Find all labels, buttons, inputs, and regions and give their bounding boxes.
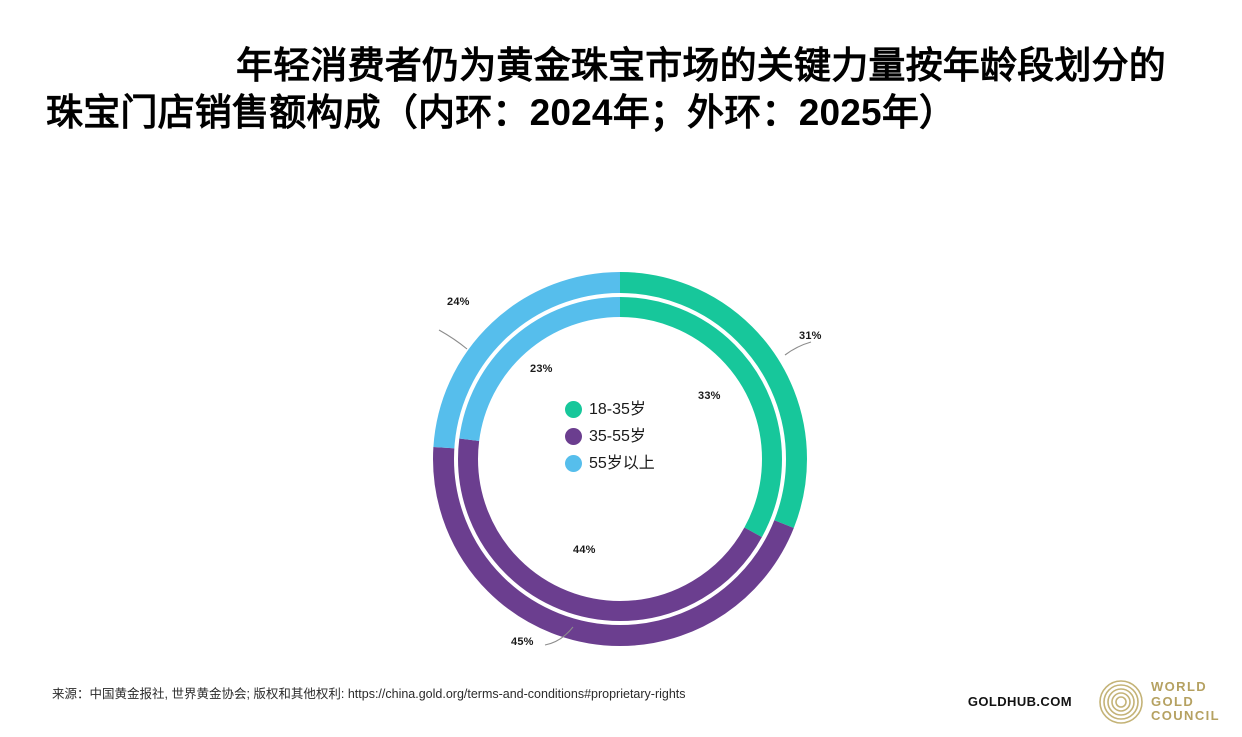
legend-swatch-55plus <box>565 455 582 472</box>
legend-label-18-35: 18-35岁 <box>589 401 646 419</box>
brand-footer: GOLDHUB.COM WORLD GOLD COUNCIL <box>968 679 1220 725</box>
world-gold-council-logo: WORLD GOLD COUNCIL <box>1098 679 1220 725</box>
pct-label-outer-35-55: 45% <box>511 636 534 648</box>
leader-line-outer-55plus <box>439 330 467 349</box>
leader-line-outer-18-35 <box>785 342 811 355</box>
pct-label-inner-35-55: 44% <box>573 544 596 556</box>
legend-swatch-18-35 <box>565 401 582 418</box>
page-title: 年轻消费者仍为黄金珠宝市场的关键力量按年龄段划分的珠宝门店销售额构成（内环：20… <box>46 42 1186 136</box>
pct-label-outer-55plus: 24% <box>447 296 470 308</box>
pct-label-outer-18-35: 31% <box>799 330 822 342</box>
legend-label-35-55: 35-55岁 <box>589 428 646 446</box>
pct-label-inner-55plus: 23% <box>530 363 553 375</box>
legend-item-18-35[interactable]: 18-35岁 <box>565 396 715 423</box>
wgc-word-world: WORLD <box>1151 680 1220 695</box>
source-note-url[interactable]: https://china.gold.org/terms-and-conditi… <box>348 687 686 701</box>
legend-item-35-55[interactable]: 35-55岁 <box>565 423 715 450</box>
chart-legend: 18-35岁 35-55岁 55岁以上 <box>565 396 715 477</box>
wgc-wordmark: WORLD GOLD COUNCIL <box>1151 680 1220 724</box>
legend-item-55plus[interactable]: 55岁以上 <box>565 450 715 477</box>
source-note-prefix: 来源：中国黄金报社, 世界黄金协会; 版权和其他权利: <box>52 687 348 701</box>
concentric-rings-icon <box>1098 679 1144 725</box>
wgc-word-gold: GOLD <box>1151 695 1220 710</box>
wgc-word-council: COUNCIL <box>1151 709 1220 724</box>
legend-swatch-35-55 <box>565 428 582 445</box>
source-note: 来源：中国黄金报社, 世界黄金协会; 版权和其他权利: https://chin… <box>52 686 686 702</box>
legend-label-55plus: 55岁以上 <box>589 455 655 473</box>
goldhub-wordmark: GOLDHUB.COM <box>968 694 1072 709</box>
